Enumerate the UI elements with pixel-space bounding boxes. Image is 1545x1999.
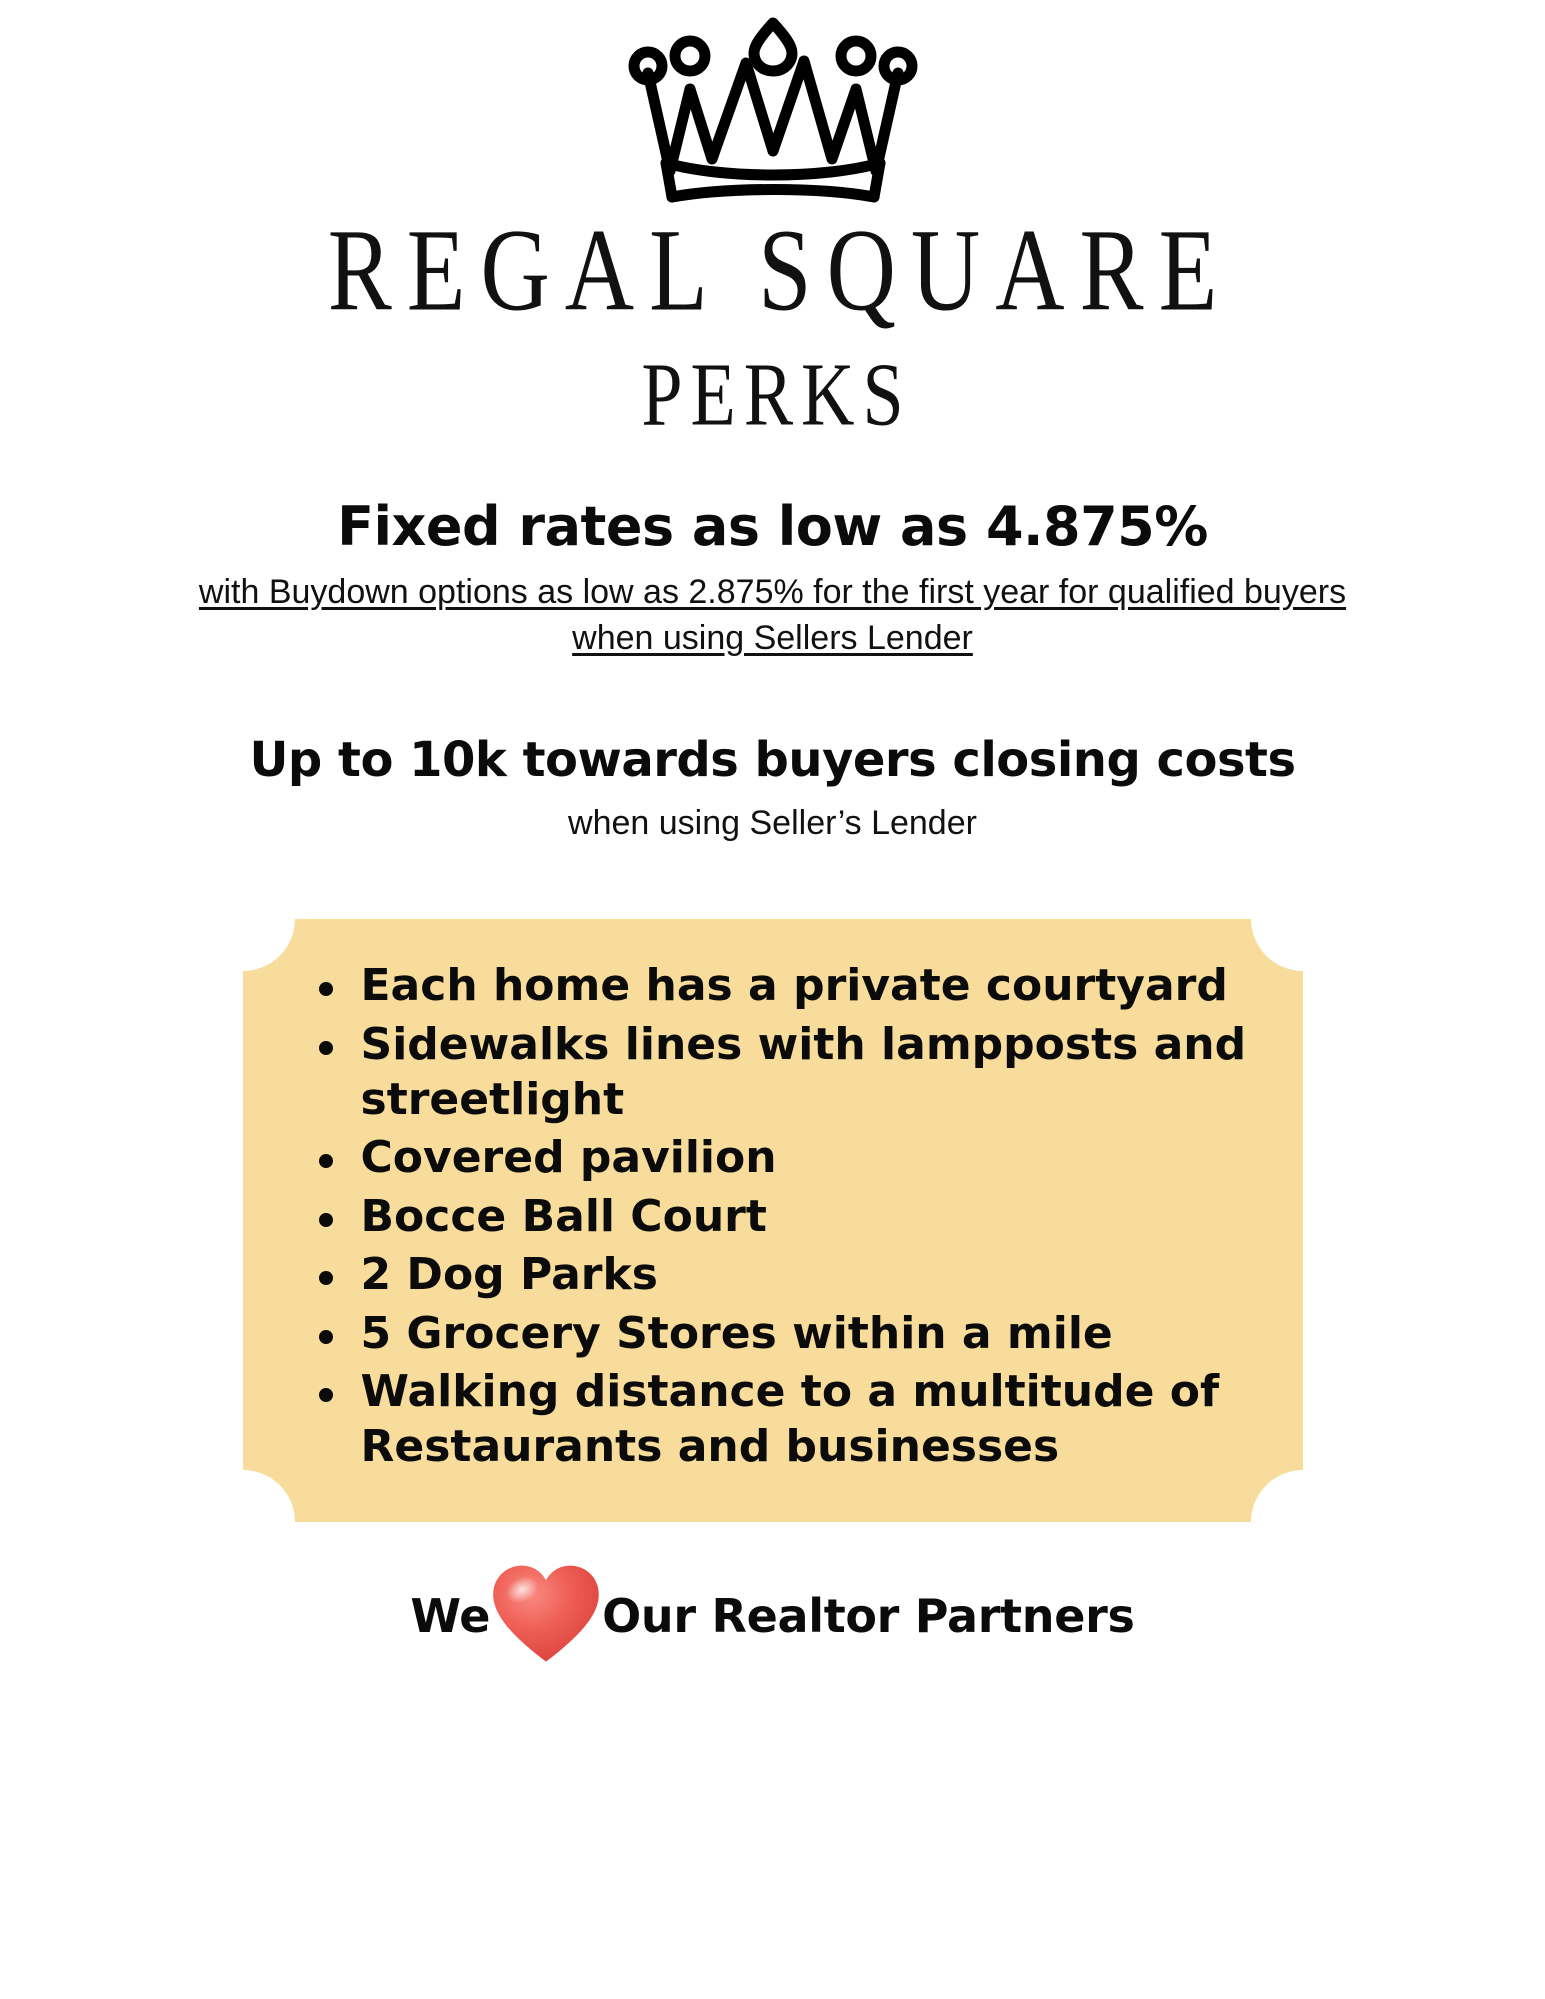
corner-notch-top-right	[1251, 919, 1303, 971]
list-item-label: Covered pavilion	[361, 1132, 777, 1183]
corner-notch-top-left	[243, 919, 295, 971]
list-item: Covered pavilion	[307, 1131, 1257, 1186]
brand-title: REGAL SQUARE	[313, 212, 1232, 329]
offer-closing-costs-headline: Up to 10k towards buyers closing costs	[0, 735, 1545, 787]
love-text-after: Our Realtor Partners	[602, 1589, 1134, 1643]
heart-icon	[486, 1556, 606, 1676]
list-item-label: 5 Grocery Stores within a mile	[361, 1308, 1113, 1359]
perks-box: Each home has a private courtyard Sidewa…	[243, 919, 1303, 1522]
offer-fixed-rates-detail-line1: with Buydown options as low as 2.875% fo…	[199, 573, 1346, 611]
corner-notch-bottom-left	[243, 1470, 295, 1522]
bullet-icon	[319, 1154, 333, 1168]
crown-icon	[593, 8, 953, 208]
bullet-icon	[319, 1271, 333, 1285]
list-item: 5 Grocery Stores within a mile	[307, 1307, 1257, 1362]
list-item-label: Each home has a private courtyard	[361, 960, 1228, 1011]
list-item: 2 Dog Parks	[307, 1248, 1257, 1303]
bullet-icon	[319, 982, 333, 996]
perks-list: Each home has a private courtyard Sidewa…	[289, 959, 1257, 1474]
realtor-partners-line: We Our Realtor Partners	[410, 1556, 1134, 1676]
bullet-icon	[319, 1330, 333, 1344]
offer-fixed-rates: Fixed rates as low as 4.875% with Buydow…	[0, 498, 1545, 661]
corner-notch-bottom-right	[1251, 1470, 1303, 1522]
love-text-before: We	[410, 1589, 490, 1643]
list-item: Sidewalks lines with lampposts and stree…	[307, 1018, 1257, 1127]
list-item: Each home has a private courtyard	[307, 959, 1257, 1014]
offer-closing-costs-detail: when using Seller’s Lender	[0, 801, 1545, 845]
offer-fixed-rates-detail-line2: when using Sellers Lender	[572, 619, 973, 657]
offer-closing-costs: Up to 10k towards buyers closing costs w…	[0, 735, 1545, 845]
list-item-label: Sidewalks lines with lampposts and stree…	[361, 1019, 1247, 1125]
bullet-icon	[319, 1388, 333, 1402]
offer-fixed-rates-detail: with Buydown options as low as 2.875% fo…	[183, 570, 1363, 661]
list-item: Walking distance to a multitude of Resta…	[307, 1365, 1257, 1474]
bullet-icon	[319, 1041, 333, 1055]
offer-fixed-rates-headline: Fixed rates as low as 4.875%	[0, 498, 1545, 556]
list-item: Bocce Ball Court	[307, 1190, 1257, 1245]
list-item-label: 2 Dog Parks	[361, 1249, 658, 1300]
brand-subtitle: PERKS	[633, 350, 911, 440]
bullet-icon	[319, 1213, 333, 1227]
flyer-page: REGAL SQUARE PERKS Fixed rates as low as…	[0, 0, 1545, 1999]
list-item-label: Walking distance to a multitude of Resta…	[361, 1366, 1220, 1472]
perks-box-body: Each home has a private courtyard Sidewa…	[243, 919, 1303, 1522]
list-item-label: Bocce Ball Court	[361, 1191, 767, 1242]
